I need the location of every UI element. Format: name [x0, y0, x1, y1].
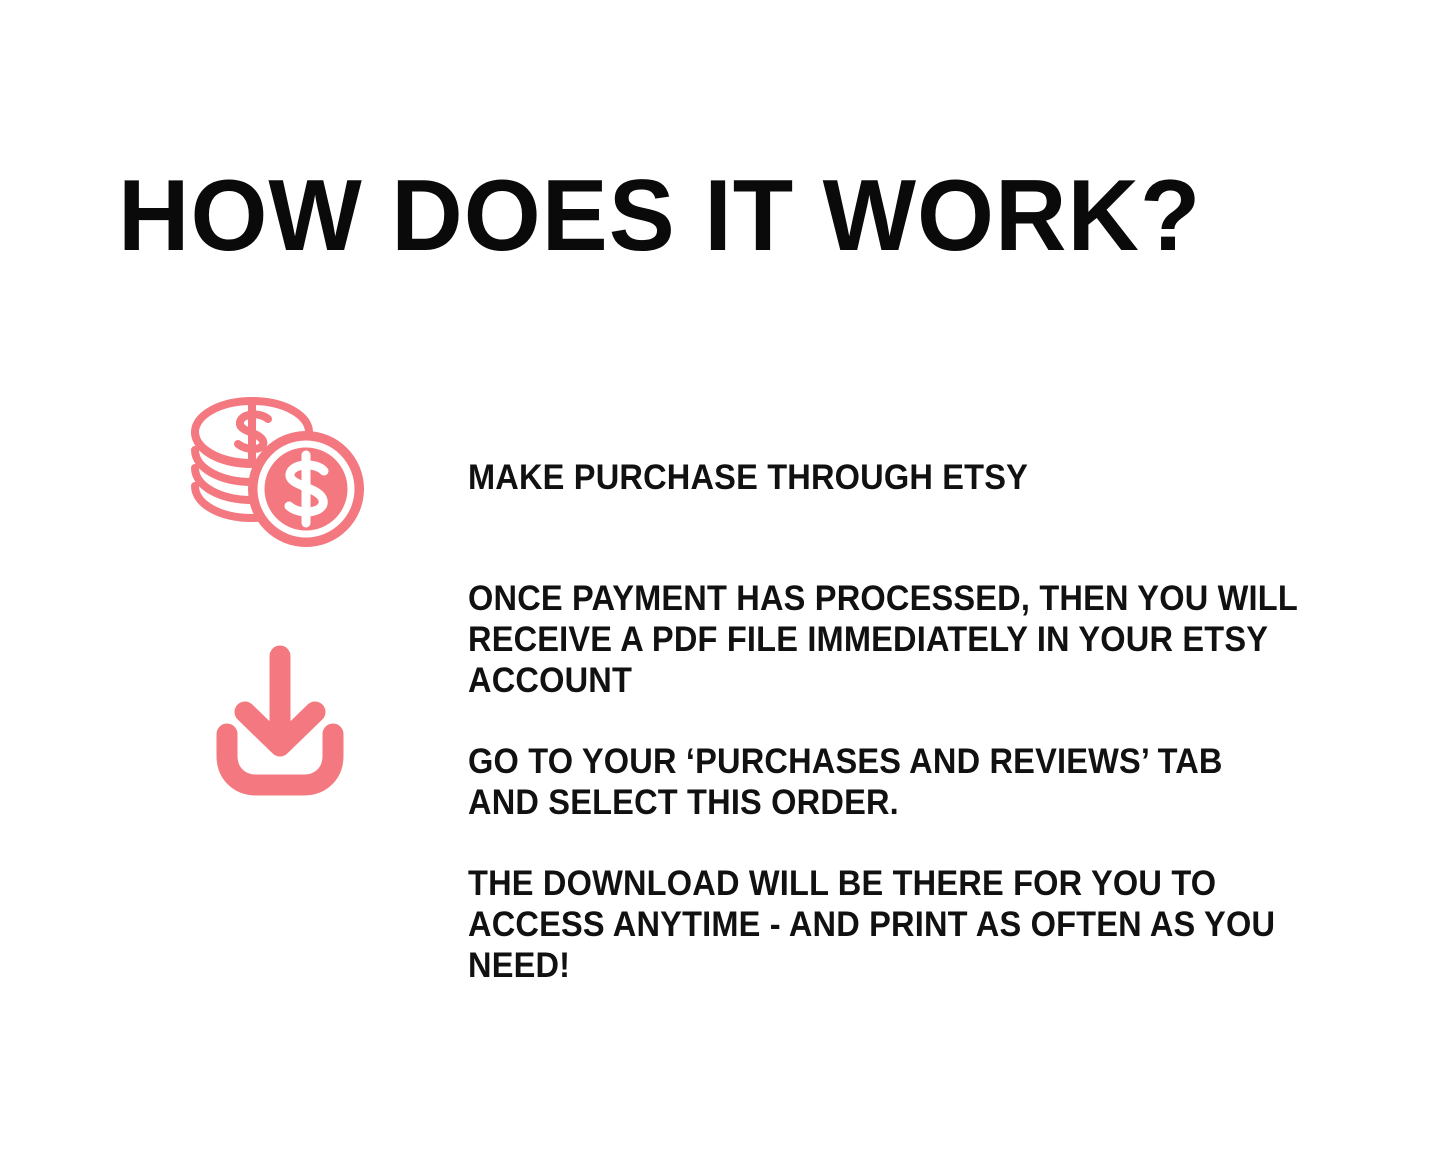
list-item: THE DOWNLOAD WILL BE THERE FOR YOU TO AC…: [468, 863, 1298, 986]
page-title: HOW DOES IT WORK?: [118, 160, 1314, 273]
steps-list: MAKE PURCHASE THROUGH ETSY ONCE PAYMENT …: [468, 457, 1298, 986]
list-item: MAKE PURCHASE THROUGH ETSY: [468, 457, 1298, 498]
download-icon: [205, 640, 355, 800]
coins-icon: [180, 392, 380, 562]
how-does-it-work-infographic: HOW DOES IT WORK?: [0, 0, 1445, 1156]
list-item: GO TO YOUR ‘PURCHASES AND REVIEWS’ TAB A…: [468, 741, 1298, 823]
list-item: ONCE PAYMENT HAS PROCESSED, THEN YOU WIL…: [468, 578, 1298, 701]
